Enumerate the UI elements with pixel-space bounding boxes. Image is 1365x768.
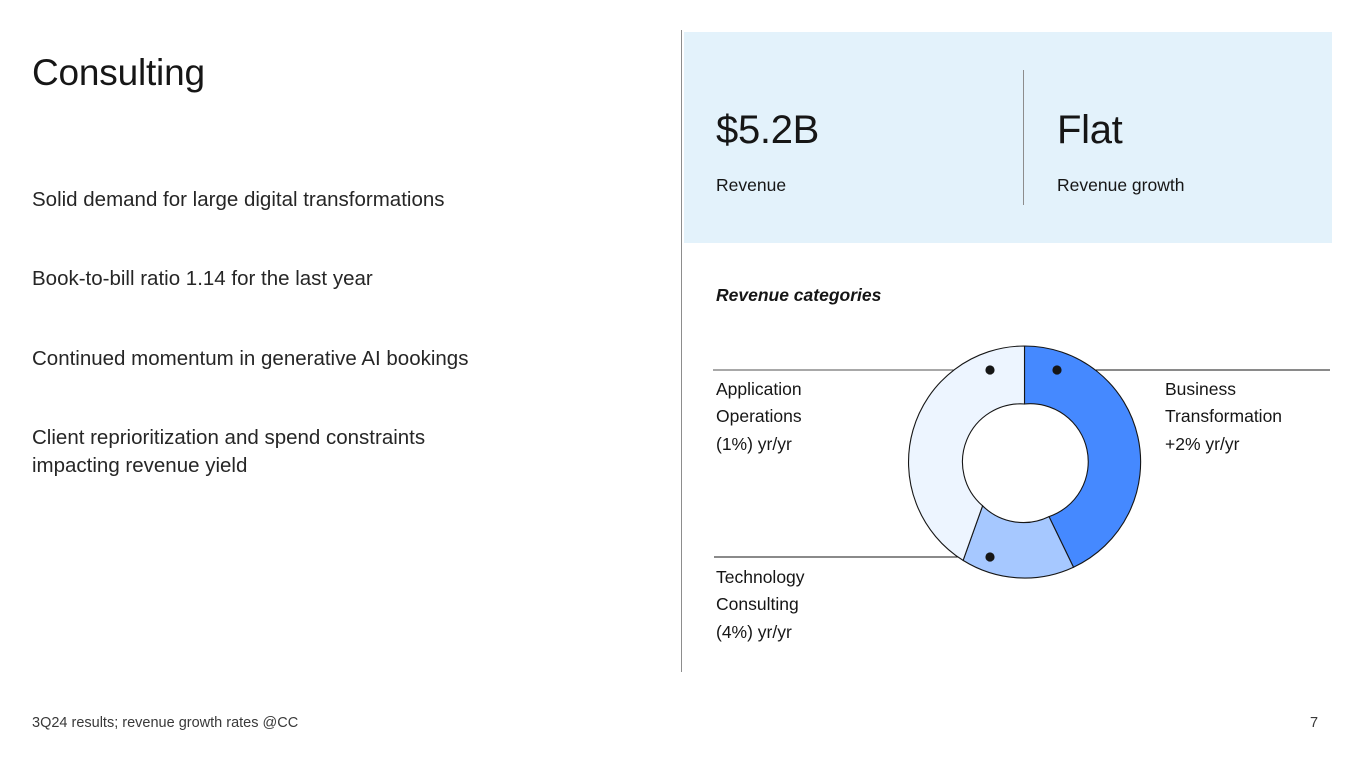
chart-label-business-transformation: Business Transformation +2% yr/yr xyxy=(1165,376,1282,458)
stat-revenue-label: Revenue xyxy=(716,175,819,196)
list-item: Client reprioritization and spend constr… xyxy=(32,424,632,481)
leader-dot-application-operations xyxy=(985,365,994,374)
stat-growth-value: Flat xyxy=(1057,110,1184,150)
stat-growth-label: Revenue growth xyxy=(1057,175,1184,196)
list-item: Solid demand for large digital transform… xyxy=(32,186,632,214)
list-item: Book-to-bill ratio 1.14 for the last yea… xyxy=(32,265,632,293)
chart-title: Revenue categories xyxy=(716,285,881,306)
list-item: Continued momentum in generative AI book… xyxy=(32,345,632,373)
leader-dot-technology-consulting xyxy=(985,552,994,561)
bullet-list: Solid demand for large digital transform… xyxy=(32,186,632,480)
stat-revenue-value: $5.2B xyxy=(716,110,819,150)
chart-label-technology-consulting: Technology Consulting (4%) yr/yr xyxy=(716,564,805,646)
column-divider xyxy=(681,30,682,672)
page-title: Consulting xyxy=(32,51,205,95)
leader-dot-business-transformation xyxy=(1052,365,1061,374)
stats-panel: $5.2B Revenue Flat Revenue growth xyxy=(684,32,1332,243)
page-number: 7 xyxy=(1310,715,1318,732)
footnote: 3Q24 results; revenue growth rates @CC xyxy=(32,715,298,732)
stat-revenue: $5.2B Revenue xyxy=(716,110,819,196)
chart-label-application-operations: Application Operations (1%) yr/yr xyxy=(716,376,802,458)
stat-revenue-growth: Flat Revenue growth xyxy=(1057,110,1184,196)
slide-canvas: Consulting Solid demand for large digita… xyxy=(0,0,1365,768)
stat-divider xyxy=(1023,70,1024,205)
donut-slices xyxy=(909,346,1141,578)
